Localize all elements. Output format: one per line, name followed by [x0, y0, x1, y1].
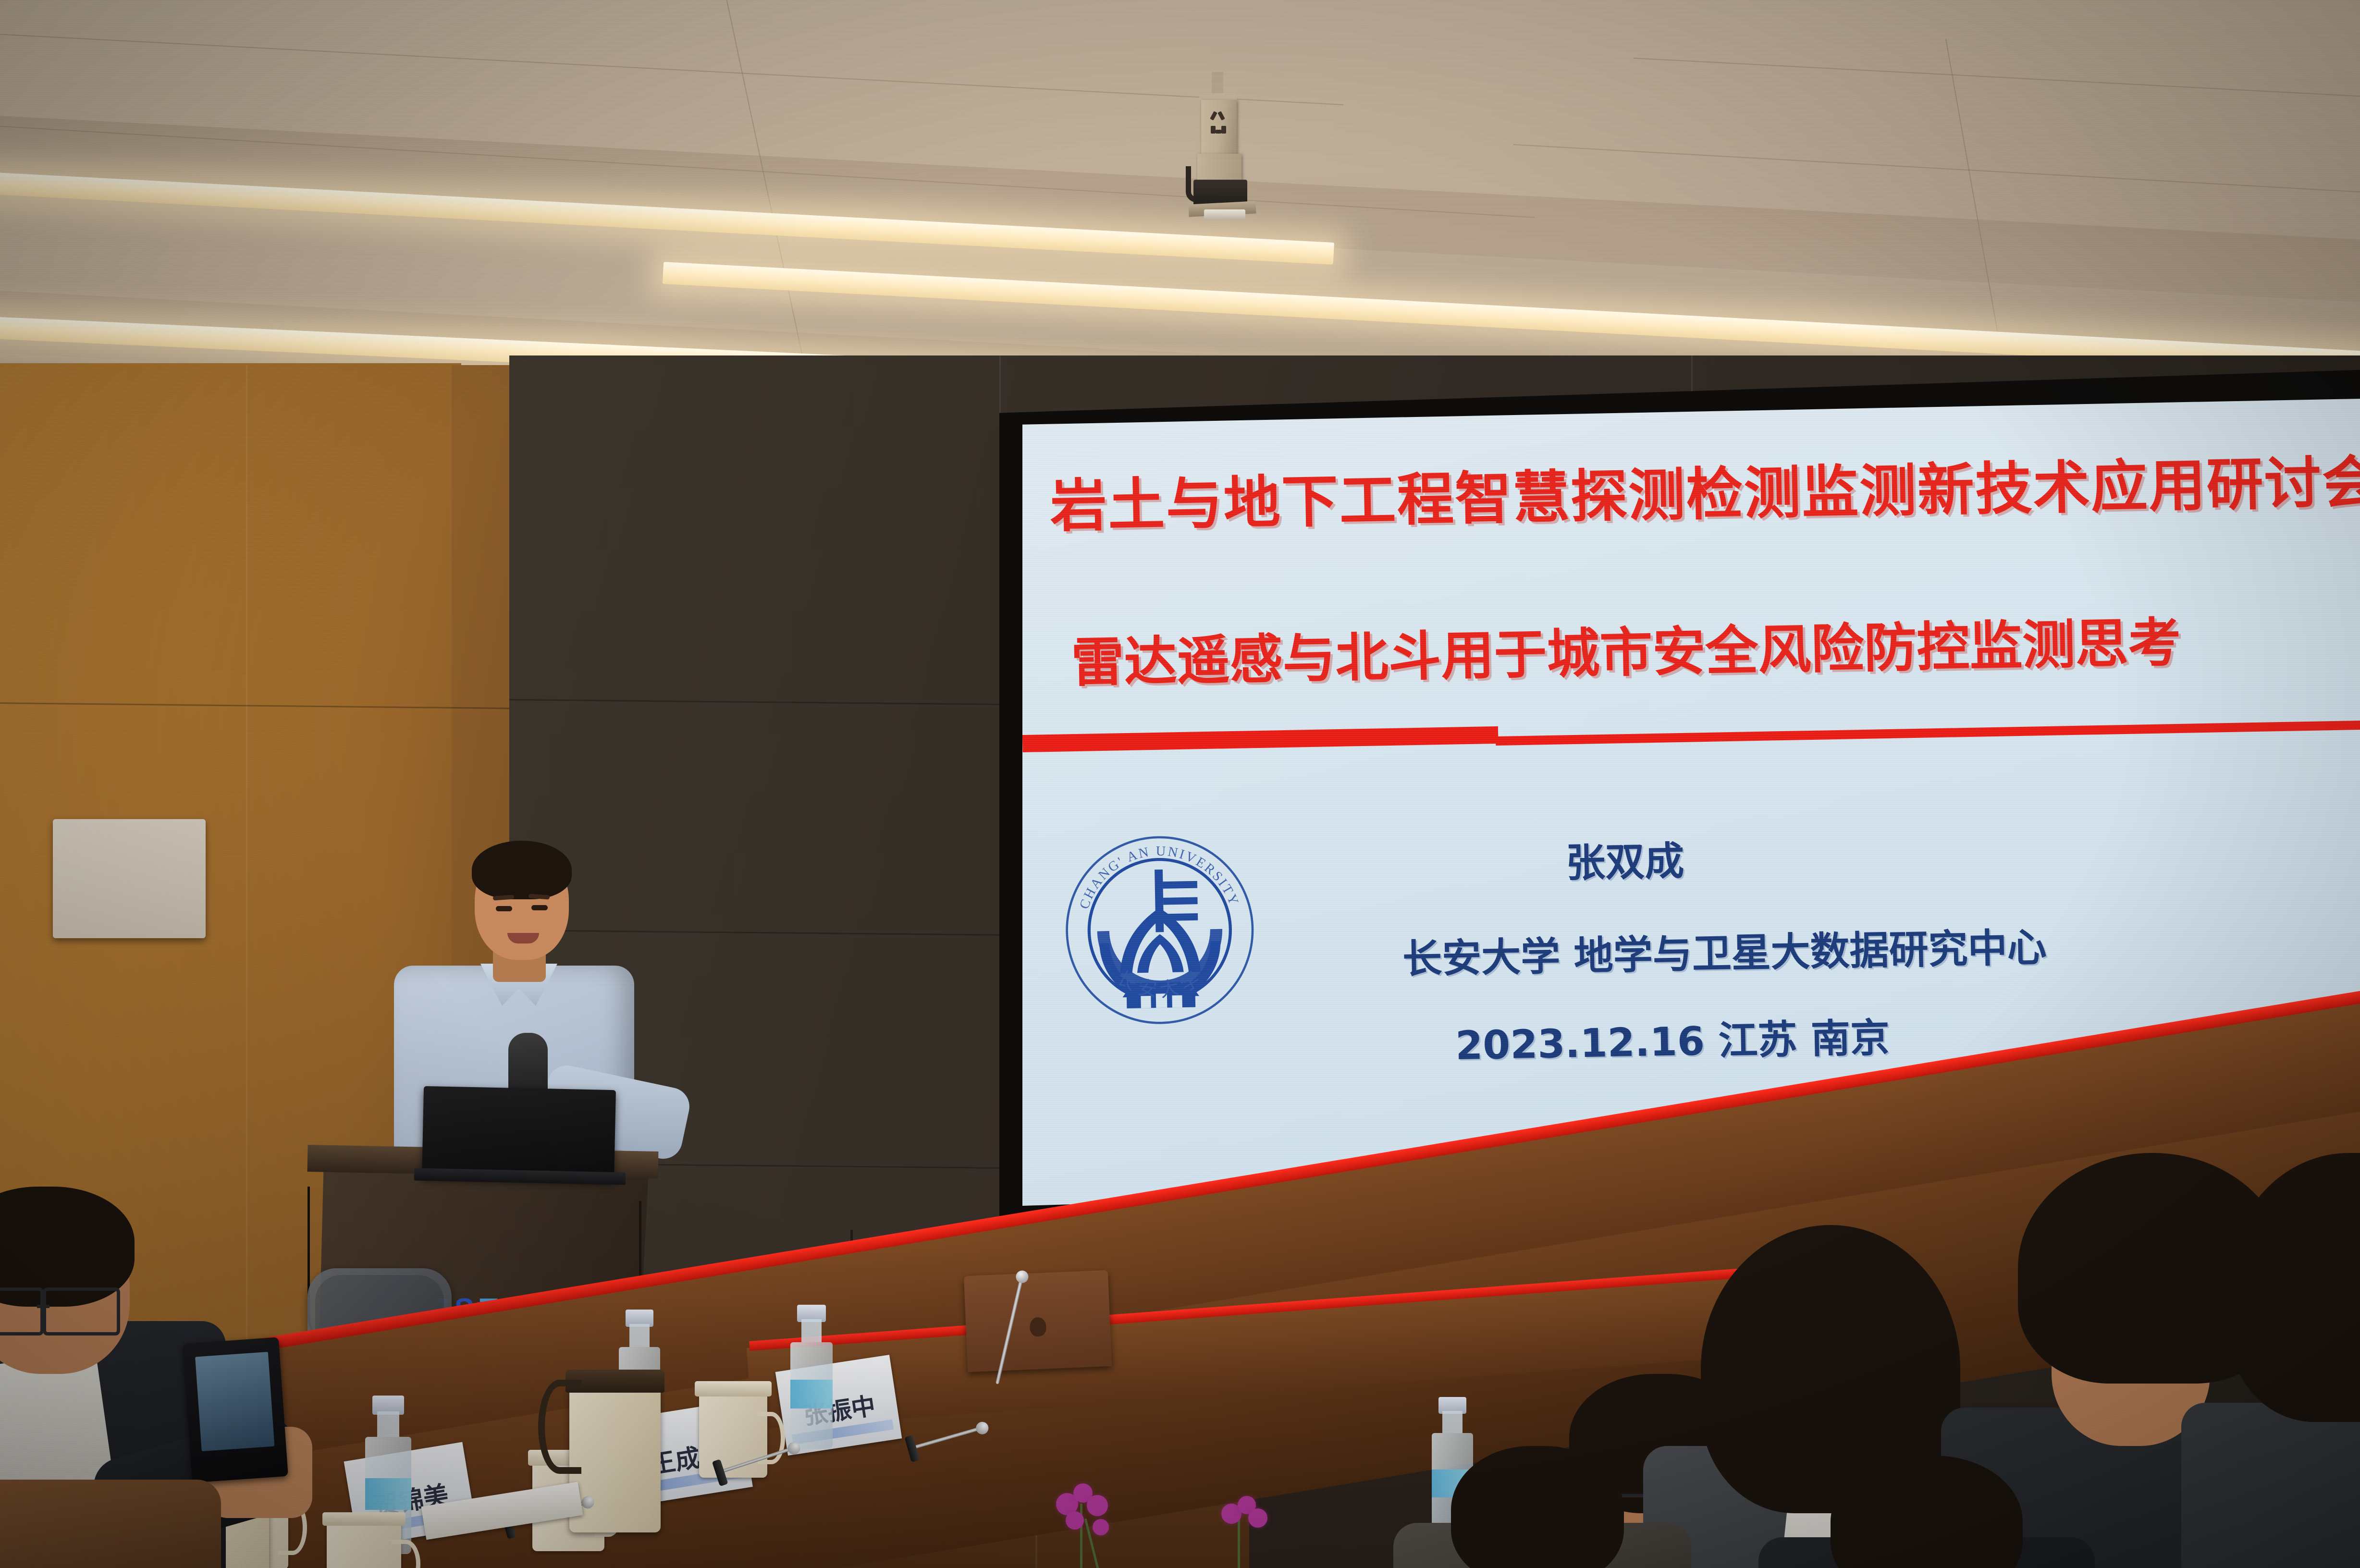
flower-vase: [1023, 1465, 1148, 1568]
fire-sprinkler-icon: [1109, 42, 1128, 71]
apple-logo-icon: [1030, 1317, 1047, 1336]
slide-divider-thick: [1022, 726, 1498, 752]
macbook-laptop: [964, 1270, 1112, 1372]
conference-room-photo: 岩土与地下工程智慧探测检测监测新技术应用研讨会 雷达遥感与北斗用于城市安全风险防…: [0, 0, 2360, 1568]
eyeglasses-icon: [0, 1287, 120, 1329]
wall-panel-whiteboard: [53, 819, 206, 938]
slide-conference-title: 岩土与地下工程智慧探测检测监测新技术应用研讨会: [1049, 436, 2360, 542]
smartphone[interactable]: [183, 1337, 288, 1482]
fire-sprinkler-icon-2: [1481, 300, 1498, 325]
slide-date-location: 2023.12.16 江苏 南京: [1455, 1005, 1890, 1071]
changan-university-seal: CHANG' AN UNIVERSITY 长安大学: [1057, 827, 1263, 1033]
tea-mug: [327, 1523, 401, 1568]
ceiling: [0, 0, 2360, 380]
speaker-hair: [472, 841, 572, 899]
slide-divider-thin: [1496, 721, 2360, 746]
tea-mug: [699, 1393, 767, 1478]
flower-vase: [1192, 1480, 1297, 1568]
water-bottle: [790, 1305, 833, 1449]
slide-presenter-name: 张双成: [1565, 829, 1684, 888]
slide-affiliation: 长安大学 地学与卫星大数据研究中心: [1402, 915, 2047, 984]
thermos-pot: [569, 1388, 661, 1532]
slide-presentation-title: 雷达遥感与北斗用于城市安全风险防控监测思考: [1070, 600, 2182, 697]
podium-laptop: [422, 1086, 616, 1181]
